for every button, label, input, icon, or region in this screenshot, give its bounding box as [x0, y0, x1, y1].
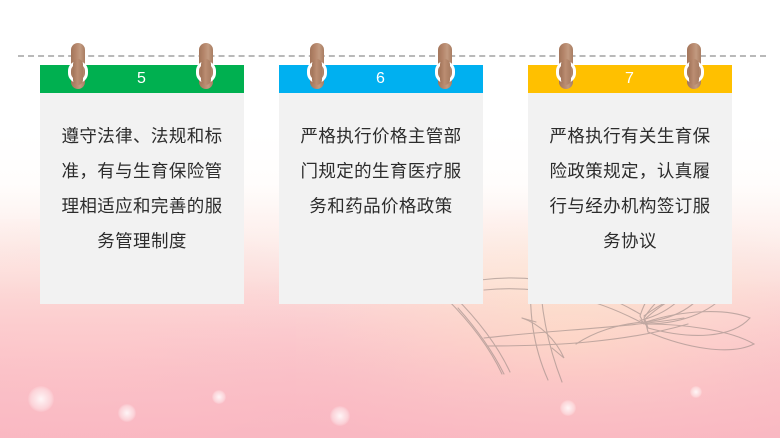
- calendar-card-7[interactable]: 7 严格执行有关生育保险政策规定，认真履行与经办机构签订服务协议: [528, 65, 732, 304]
- binder-pin-front: [312, 59, 322, 85]
- bokeh-dot: [330, 406, 350, 426]
- bokeh-dot: [212, 390, 226, 404]
- binder-pin-front: [440, 59, 450, 85]
- card-body-6: 严格执行价格主管部门规定的生育医疗服务和药品价格政策: [279, 93, 483, 304]
- bokeh-dot: [28, 386, 54, 412]
- binder-ring-icon: [68, 43, 88, 91]
- binder-ring-icon: [307, 43, 327, 91]
- binder-pin-front: [561, 59, 571, 85]
- card-header-7: 7: [528, 65, 732, 93]
- binder-ring-icon: [435, 43, 455, 91]
- binder-pin-front: [201, 59, 211, 85]
- card-number-6: 6: [376, 70, 386, 87]
- binder-ring-icon: [196, 43, 216, 91]
- card-body-5: 遵守法律、法规和标准，有与生育保险管理相适应和完善的服务管理制度: [40, 93, 244, 304]
- binder-pin-front: [73, 59, 83, 85]
- calendar-card-5[interactable]: 5 遵守法律、法规和标准，有与生育保险管理相适应和完善的服务管理制度: [40, 65, 244, 304]
- card-header-6: 6: [279, 65, 483, 93]
- card-number-7: 7: [625, 70, 635, 87]
- card-body-7: 严格执行有关生育保险政策规定，认真履行与经办机构签订服务协议: [528, 93, 732, 304]
- binder-ring-icon: [556, 43, 576, 91]
- binder-pin-front: [689, 59, 699, 85]
- card-header-5: 5: [40, 65, 244, 93]
- binder-ring-icon: [684, 43, 704, 91]
- calendar-card-6[interactable]: 6 严格执行价格主管部门规定的生育医疗服务和药品价格政策: [279, 65, 483, 304]
- card-number-5: 5: [137, 70, 147, 87]
- bokeh-dot: [118, 404, 136, 422]
- hanging-rail: [18, 55, 766, 57]
- slide-canvas: 5 遵守法律、法规和标准，有与生育保险管理相适应和完善的服务管理制度 6: [0, 0, 780, 438]
